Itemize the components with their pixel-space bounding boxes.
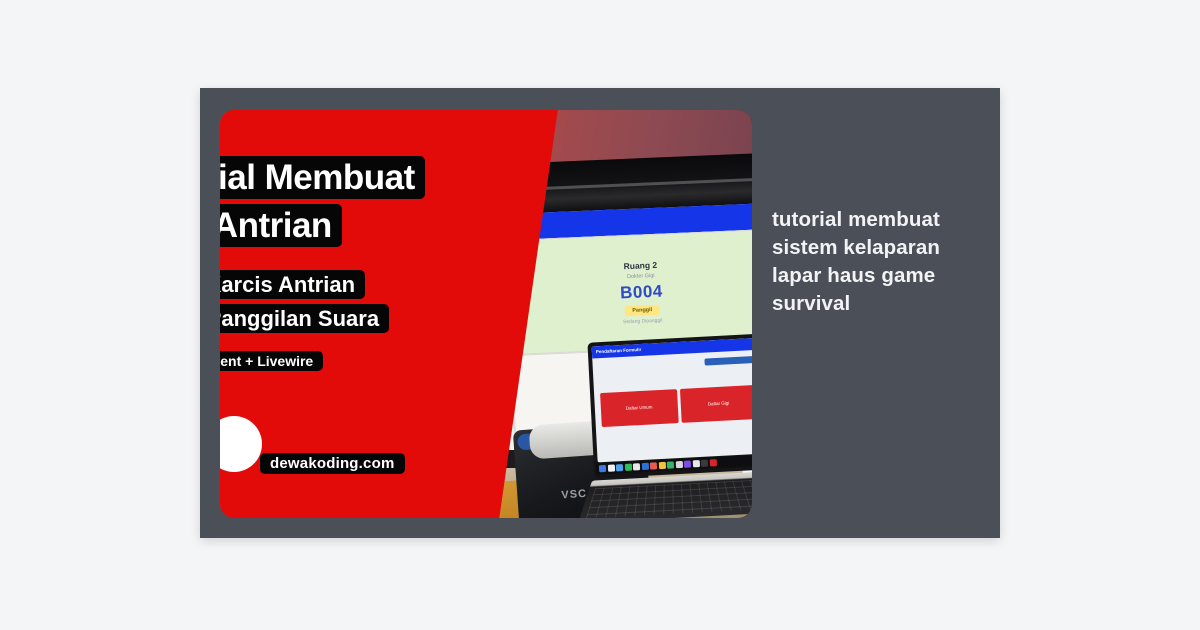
printer-brand-label: VSC xyxy=(561,488,587,502)
dock-icon-notes xyxy=(658,462,665,469)
dock-icon-appstore xyxy=(675,461,682,468)
operator-app-button-1: Daftar Umum xyxy=(600,389,678,427)
keyboard-keys xyxy=(586,479,752,518)
dock-icon-spotify xyxy=(667,461,674,468)
operator-app-buttons: Daftar Umum Daftar Gigi xyxy=(600,385,752,427)
thumbnail-website-badge: dewakoding.com xyxy=(260,455,405,472)
dock-icon-safari xyxy=(616,464,623,471)
operator-app: Pendaftaran Formulir Daftar Umum Daftar … xyxy=(592,338,752,463)
thumbnail-subtitle-line-2-text: r Panggilan Suara xyxy=(220,304,389,333)
thumbnail-title-line-2: o Antrian xyxy=(220,206,342,246)
dock-icon-launchpad xyxy=(607,464,614,471)
thumbnail-subtitle-line-2: r Panggilan Suara xyxy=(220,306,389,332)
dock-icon-figma xyxy=(684,460,691,467)
dock-icon-trash xyxy=(709,459,716,466)
queue-cell-room-sub: Dokter Gigi xyxy=(627,272,655,279)
dock-icon-photos xyxy=(650,462,657,469)
operator-app-button-2: Daftar Gigi xyxy=(679,385,752,423)
queue-cell-room: Ruang 2 xyxy=(623,259,657,270)
dock-icon-calendar xyxy=(641,463,648,470)
thumbnail-title-line-1-text: orial Membuat xyxy=(220,156,425,199)
laptop-keyboard xyxy=(578,471,752,518)
operator-app-action-pill xyxy=(704,356,752,366)
dock-icon-vscode xyxy=(701,460,708,467)
operator-app-title: Pendaftaran Formulir xyxy=(592,338,752,359)
dock-icon-mail xyxy=(633,463,640,470)
video-result-card[interactable]: Pendaftaran Formulir Ruang 1 Dokter Umum… xyxy=(200,88,1000,538)
operator-app-titlebar: Pendaftaran Formulir xyxy=(592,338,752,359)
thumbnail-title-line-2-text: o Antrian xyxy=(220,204,342,247)
thumbnail-tech-badge: ament + Livewire xyxy=(220,353,323,369)
queue-cell-number: B004 xyxy=(620,281,663,303)
thumbnail-subtitle-line-1: t Karcis Antrian xyxy=(220,272,365,298)
thumbnail-title-line-1: orial Membuat xyxy=(220,158,425,198)
video-caption: tutorial membuat sistem kelaparan lapar … xyxy=(772,206,1000,318)
thumbnail-tech-badge-text: ament + Livewire xyxy=(220,351,323,371)
thumbnail-website-text: dewakoding.com xyxy=(260,453,405,474)
thumbnail-subtitle-line-1-text: t Karcis Antrian xyxy=(220,270,365,299)
dock-icon-terminal xyxy=(692,460,699,467)
video-thumbnail[interactable]: Pendaftaran Formulir Ruang 1 Dokter Umum… xyxy=(220,110,752,518)
dock-icon-finder xyxy=(599,465,606,472)
queue-cell-footer: Sedang Dipanggil xyxy=(623,317,663,325)
laptop-device: Pendaftaran Formulir Daftar Umum Daftar … xyxy=(587,334,752,518)
queue-cell-badge: Panggil xyxy=(624,304,660,315)
dock-icon-messages xyxy=(624,464,631,471)
